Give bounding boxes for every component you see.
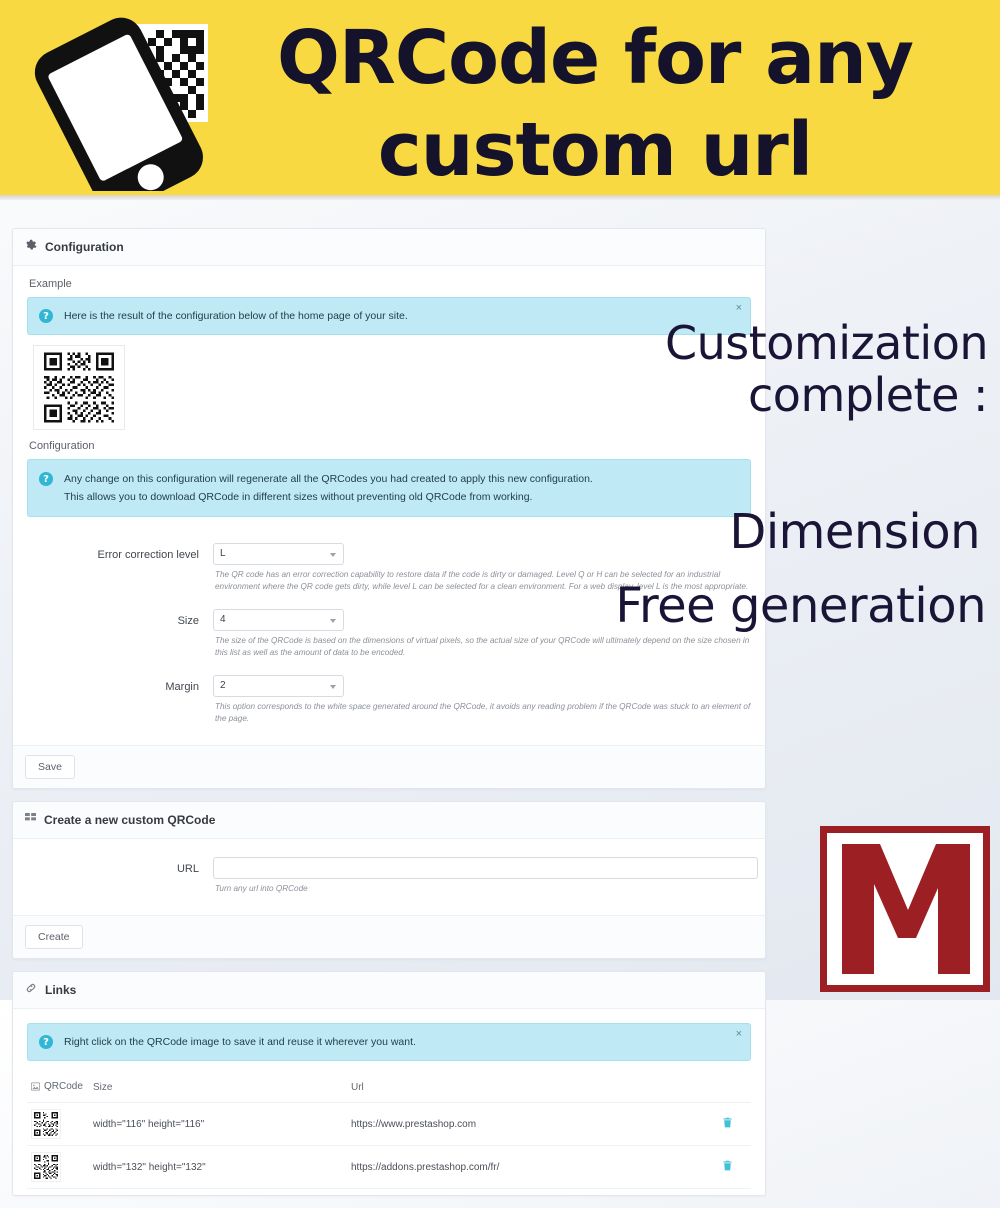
margin-label: Margin [27, 675, 213, 693]
banner-shadow [0, 195, 1000, 200]
question-icon: ? [39, 1035, 53, 1049]
row-size-cell: width="132" height="132" [89, 1146, 347, 1189]
links-card-body: ? Right click on the QRCode image to sav… [13, 1009, 765, 1195]
table-row: width="132" height="132" https://addons.… [27, 1146, 751, 1189]
configuration-card-title: Configuration [45, 240, 124, 254]
gear-icon [25, 238, 37, 256]
url-input[interactable] [213, 857, 758, 879]
url-hint: Turn any url into QRCode [215, 883, 751, 895]
row-size-cell: width="116" height="116" [89, 1103, 347, 1146]
links-table-body: width="116" height="116" https://www.pre… [27, 1103, 751, 1189]
column-header-url: Url [347, 1075, 703, 1103]
overlay-text-line2: complete : [748, 368, 988, 422]
create-qrcode-card-header: Create a new custom QRCode [13, 802, 765, 839]
create-button[interactable]: Create [25, 925, 83, 949]
links-card-title: Links [45, 983, 76, 997]
create-qrcode-card-footer: Create [13, 915, 765, 958]
qr-thumbnail-icon[interactable] [31, 1152, 61, 1182]
table-header-row: QRCode Size Url [27, 1075, 751, 1103]
banner-title: QRCode for any custom url [200, 12, 990, 196]
links-alert: ? Right click on the QRCode image to sav… [27, 1023, 751, 1061]
configuration-card-header: Configuration [13, 229, 765, 266]
banner-title-line2: custom url [200, 104, 990, 196]
row-actions-cell [703, 1146, 751, 1189]
size-hint: The size of the QRCode is based on the d… [215, 635, 751, 659]
size-label: Size [27, 609, 213, 627]
delete-icon[interactable] [722, 1117, 733, 1131]
links-card-header: Links [13, 972, 765, 1009]
overlay-text-line1: Customization [665, 316, 988, 370]
row-qrcode-cell [27, 1103, 89, 1146]
chevron-down-icon [330, 553, 336, 557]
configuration-card-footer: Save [13, 745, 765, 788]
promo-banner: QRCode for any custom url [0, 0, 1000, 197]
admin-panel-column: Configuration Example ? Here is the resu… [12, 228, 766, 1208]
save-button[interactable]: Save [25, 755, 75, 779]
banner-title-line1: QRCode for any [200, 12, 990, 104]
example-alert-text: Here is the result of the configuration … [64, 307, 408, 325]
configuration-card: Configuration Example ? Here is the resu… [12, 228, 766, 789]
create-qrcode-card: Create a new custom QRCode URL Turn any … [12, 801, 766, 959]
qr-thumbnail-icon[interactable] [31, 1109, 61, 1139]
m-logo-icon [820, 826, 990, 992]
question-icon: ? [39, 309, 53, 323]
column-header-qrcode-label: QRCode [44, 1081, 83, 1092]
create-qrcode-card-title: Create a new custom QRCode [44, 813, 215, 827]
column-header-actions [703, 1075, 751, 1103]
close-icon[interactable]: × [736, 1029, 742, 1040]
margin-select[interactable]: 2 [213, 675, 344, 697]
smartphone-qrcode-illustration-icon [18, 6, 208, 191]
margin-value: 2 [220, 680, 226, 691]
grid-icon [25, 811, 36, 829]
configuration-alert-line2: This allows you to download QRCode in di… [64, 488, 593, 506]
example-qrcode-image [33, 345, 125, 430]
chevron-down-icon [330, 619, 336, 623]
url-label: URL [27, 857, 213, 875]
size-select[interactable]: 4 [213, 609, 344, 631]
links-card: Links ? Right click on the QRCode image … [12, 971, 766, 1196]
error-correction-level-value: L [220, 548, 226, 559]
close-icon[interactable]: × [736, 303, 742, 314]
configuration-alert: ? Any change on this configuration will … [27, 459, 751, 517]
example-label: Example [29, 278, 751, 290]
links-alert-text: Right click on the QRCode image to save … [64, 1033, 416, 1051]
link-icon [25, 981, 37, 999]
column-header-qrcode: QRCode [27, 1075, 89, 1103]
configuration-label: Configuration [29, 440, 751, 452]
error-correction-level-label: Error correction level [27, 543, 213, 561]
table-row: width="116" height="116" https://www.pre… [27, 1103, 751, 1146]
links-table: QRCode Size Url [27, 1075, 751, 1189]
size-value: 4 [220, 614, 226, 625]
row-actions-cell [703, 1103, 751, 1146]
column-header-size: Size [89, 1075, 347, 1103]
error-correction-level-select[interactable]: L [213, 543, 344, 565]
delete-icon[interactable] [722, 1160, 733, 1174]
chevron-down-icon [330, 685, 336, 689]
configuration-alert-line1: Any change on this configuration will re… [64, 470, 593, 488]
overlay-text-line4: Free generation [615, 578, 986, 634]
row-url-cell: https://www.prestashop.com [347, 1103, 703, 1146]
question-icon: ? [39, 472, 53, 486]
row-qrcode-cell [27, 1146, 89, 1189]
row-url-cell: https://addons.prestashop.com/fr/ [347, 1146, 703, 1189]
overlay-text-line3: Dimension [729, 504, 980, 560]
field-margin: Margin 2 This option corresponds to the … [27, 675, 751, 725]
configuration-alert-text: Any change on this configuration will re… [64, 470, 593, 506]
configuration-card-body: Example ? Here is the result of the conf… [13, 266, 765, 745]
example-alert: ? Here is the result of the configuratio… [27, 297, 751, 335]
create-qrcode-card-body: URL Turn any url into QRCode [13, 839, 765, 915]
margin-hint: This option corresponds to the white spa… [215, 701, 751, 725]
image-icon [31, 1082, 40, 1094]
field-url: URL Turn any url into QRCode [27, 857, 751, 895]
